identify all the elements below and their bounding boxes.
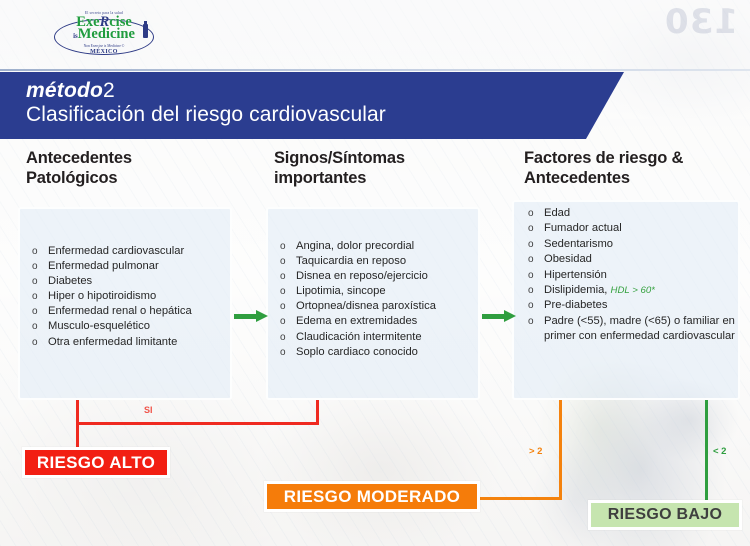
list-item-label: Disnea en reposo/ejercicio: [296, 270, 428, 282]
list-item-label: Enfermedad cardiovascular: [48, 245, 184, 257]
slide-canvas: 130 El secreto para la salud ExeRcise is…: [0, 0, 750, 546]
list-item: oFumador actual: [524, 221, 738, 236]
list-item: oOrtopnea/disnea paroxística: [276, 299, 478, 314]
list-item: oClaudicación intermitente: [276, 330, 478, 345]
method-label: método2: [26, 79, 624, 102]
list-item-label: Fumador actual: [544, 222, 622, 234]
status-badge-riesgo-moderado: RIESGO MODERADO: [264, 481, 480, 512]
bullet-marker: o: [280, 284, 286, 299]
list-item: oMusculo-esquelético: [28, 319, 230, 334]
list-item-label: Diabetes: [48, 275, 92, 287]
heading-line-1: Antecedentes: [26, 148, 236, 168]
hdl-note: HDL > 60*: [611, 285, 655, 296]
bullet-marker: o: [280, 299, 286, 314]
bullet-marker: o: [280, 314, 286, 329]
bullet-marker: o: [32, 319, 38, 334]
arrow-head: [256, 310, 268, 322]
bullet-marker: o: [280, 269, 286, 284]
box-antecedentes-patologicos: oEnfermedad cardiovascular oEnfermedad p…: [18, 207, 232, 400]
list-item: oPre-diabetes: [524, 298, 738, 313]
logo-subline: Non Exercise is Medicine ©: [46, 44, 162, 48]
heading-line-1: Signos/Síntomas: [274, 148, 484, 168]
connector-red-horizontal: [76, 422, 319, 425]
exercise-is-medicine-logo: El secreto para la salud ExeRcise isMedi…: [46, 6, 162, 68]
list-item: oSedentarismo: [524, 237, 738, 252]
list-item: oEnfermedad pulmonar: [28, 259, 230, 274]
heading-line-2: importantes: [274, 168, 484, 188]
list-item-label: Edema en extremidades: [296, 315, 417, 327]
bullet-marker: o: [280, 239, 286, 254]
status-badge-riesgo-alto: RIESGO ALTO: [22, 447, 170, 478]
list-item-label: Hiper o hipotiroidismo: [48, 290, 156, 302]
list-item: oDiabetes: [28, 274, 230, 289]
list-item: oPadre (<55), madre (<65) o familiar en …: [524, 314, 738, 345]
connector-orange-vertical: [559, 400, 562, 500]
bullet-marker: o: [528, 283, 534, 298]
column-heading-signos-sintomas: Signos/Síntomas importantes: [274, 148, 484, 188]
list-item-label: Dislipidemia,: [544, 284, 611, 296]
bullet-marker: o: [32, 274, 38, 289]
list-item-label: Otra enfermedad limitante: [48, 336, 177, 348]
list-item-label: Hipertensión: [544, 269, 607, 281]
heading-line-2: Antecedentes: [524, 168, 744, 188]
list-item: oOtra enfermedad limitante: [28, 335, 230, 350]
list-item: oEnfermedad cardiovascular: [28, 244, 230, 259]
method-word: método: [26, 79, 103, 102]
banner-top-divider: [0, 69, 750, 71]
list-item: oObesidad: [524, 252, 738, 267]
bullet-marker: o: [32, 289, 38, 304]
box-factores-riesgo: oEdad oFumador actual oSedentarismo oObe…: [512, 200, 740, 400]
bullet-marker: o: [280, 330, 286, 345]
logo-medicine: Medicine: [78, 26, 135, 42]
list-item-label: Ortopnea/disnea paroxística: [296, 300, 436, 312]
bullet-marker: o: [32, 335, 38, 350]
list-item-label: Pre-diabetes: [544, 299, 607, 311]
list-item: oEdema en extremidades: [276, 314, 478, 329]
list-item: oEnfermedad renal o hepática: [28, 304, 230, 319]
list-factores-riesgo: oEdad oFumador actual oSedentarismo oObe…: [514, 202, 738, 345]
list-item: oAngina, dolor precordial: [276, 239, 478, 254]
slide-title: Clasificación del riesgo cardiovascular: [26, 102, 624, 128]
bullet-marker: o: [528, 206, 534, 221]
connector-red-vertical-right: [316, 400, 319, 424]
arrow-shaft: [234, 314, 257, 319]
bullet-marker: o: [528, 298, 534, 313]
list-item-label: Soplo cardiaco conocido: [296, 346, 418, 358]
list-item: oDislipidemia, HDL > 60*: [524, 283, 738, 298]
list-item-label: Sedentarismo: [544, 238, 613, 250]
list-signos-sintomas: oAngina, dolor precordial oTaquicardia e…: [268, 209, 478, 360]
column-heading-antecedentes-patologicos: Antecedentes Patológicos: [26, 148, 236, 188]
list-item-label: Enfermedad renal o hepática: [48, 305, 192, 317]
list-item-label: Claudicación intermitente: [296, 331, 422, 343]
box-signos-sintomas: oAngina, dolor precordial oTaquicardia e…: [266, 207, 480, 400]
bullet-marker: o: [528, 252, 534, 267]
column-heading-factores-riesgo: Factores de riesgo & Antecedentes: [524, 148, 744, 188]
list-item-label: Padre (<55), madre (<65) o familiar en p…: [544, 315, 735, 342]
connector-green-vertical: [705, 400, 708, 503]
list-item-label: Obesidad: [544, 253, 592, 265]
green-arrow-right-icon: [482, 310, 516, 322]
list-item-label: Musculo-esquelético: [48, 320, 150, 332]
list-item-label: Edad: [544, 207, 570, 219]
list-item-label: Taquicardia en reposo: [296, 255, 406, 267]
bullet-marker: o: [528, 221, 534, 236]
list-item: oLipotimia, sincope: [276, 284, 478, 299]
connector-label-greater-than-two: > 2: [529, 446, 542, 457]
status-badge-riesgo-bajo: RIESGO BAJO: [588, 500, 742, 530]
heading-line-2: Patológicos: [26, 168, 236, 188]
bullet-marker: o: [280, 254, 286, 269]
list-item: oSoplo cardiaco conocido: [276, 345, 478, 360]
bullet-marker: o: [32, 259, 38, 274]
list-antecedentes-patologicos: oEnfermedad cardiovascular oEnfermedad p…: [20, 209, 230, 350]
list-item-label: Angina, dolor precordial: [296, 240, 414, 252]
bullet-marker: o: [528, 314, 534, 329]
title-banner: método2 Clasificación del riesgo cardiov…: [0, 72, 624, 139]
list-item-label: Lipotimia, sincope: [296, 285, 386, 297]
bullet-marker: o: [280, 345, 286, 360]
bullet-marker: o: [32, 304, 38, 319]
method-number: 2: [103, 79, 115, 102]
list-item: oHiper o hipotiroidismo: [28, 289, 230, 304]
list-item: oTaquicardia en reposo: [276, 254, 478, 269]
connector-red-vertical-left: [76, 400, 79, 424]
green-arrow-right-icon: [234, 310, 268, 322]
pill-bottle-icon: [143, 24, 148, 38]
connector-label-less-than-two: < 2: [713, 446, 726, 457]
list-item: oHipertensión: [524, 268, 738, 283]
heading-line-1: Factores de riesgo &: [524, 148, 744, 168]
connector-label-si: SI: [144, 405, 153, 415]
background-ghost-number: 130: [664, 2, 738, 42]
arrow-head: [504, 310, 516, 322]
arrow-shaft: [482, 314, 505, 319]
bullet-marker: o: [528, 268, 534, 283]
connector-red-drop: [76, 422, 79, 450]
list-item-label: Enfermedad pulmonar: [48, 260, 159, 272]
bullet-marker: o: [528, 237, 534, 252]
bullet-marker: o: [32, 244, 38, 259]
list-item: oDisnea en reposo/ejercicio: [276, 269, 478, 284]
list-item: oEdad: [524, 206, 738, 221]
logo-country: MÉXICO: [46, 49, 162, 55]
